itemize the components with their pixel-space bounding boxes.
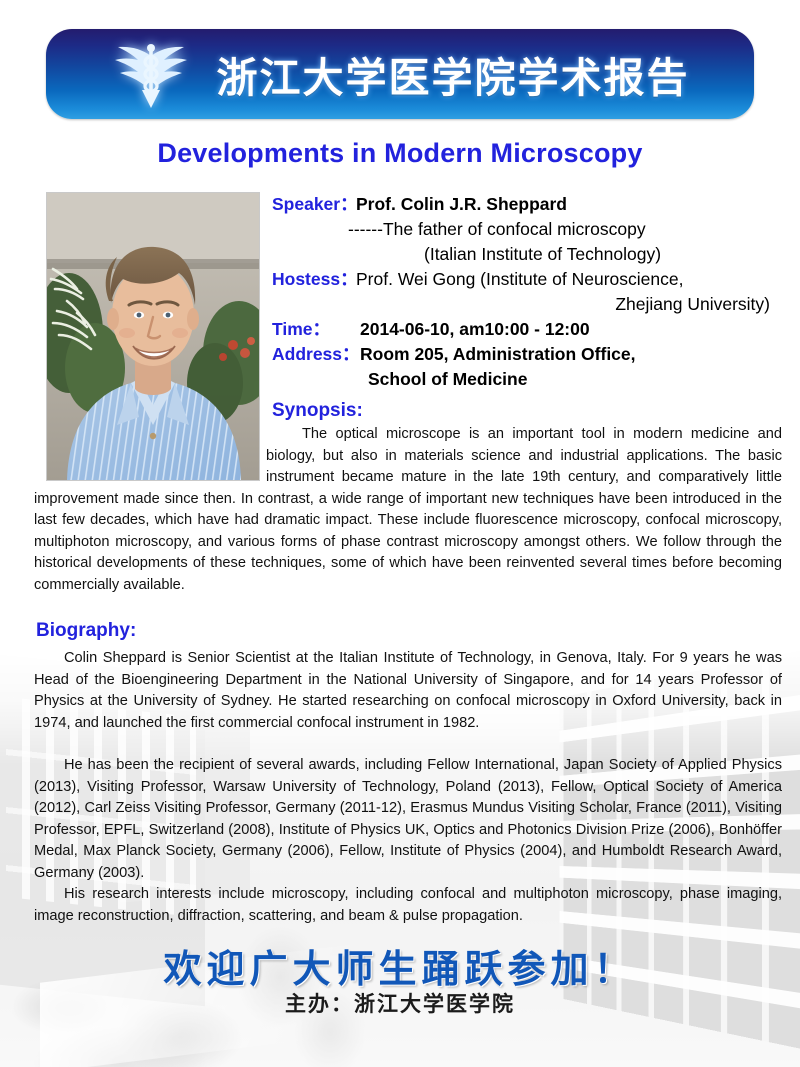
speaker-label: Speaker：	[272, 192, 356, 217]
synopsis-section: The optical microscope is an important t…	[34, 424, 782, 596]
biography-paragraph-3: His research interests include microscop…	[34, 884, 782, 927]
speaker-subtitle-2: (Italian Institute of Technology)	[272, 242, 784, 267]
caduceus-winged-medical-emblem-icon	[108, 38, 194, 110]
time-value: 2014-06-10, am10:00 - 12:00	[360, 317, 784, 342]
time-row: Time： 2014-06-10, am10:00 - 12:00	[272, 317, 784, 342]
synopsis-photo-spacer	[34, 424, 266, 486]
header-banner: 浙江大学医学院学术报告	[46, 29, 754, 119]
hostess-row: Hostess： Prof. Wei Gong (Institute of Ne…	[272, 267, 784, 292]
poster-canvas: 浙江大学医学院学术报告 Developments in Modern Micro…	[0, 0, 800, 1067]
speaker-row: Speaker： Prof. Colin J.R. Sheppard	[272, 192, 784, 217]
address-value: Room 205, Administration Office,	[360, 342, 784, 367]
biography-heading: Biography:	[36, 620, 136, 642]
hostess-value: Prof. Wei Gong (Institute of Neuroscienc…	[356, 267, 784, 292]
event-details-block: Speaker： Prof. Colin J.R. Sheppard -----…	[272, 192, 784, 423]
organizer-line: 主办：浙江大学医学院	[0, 988, 800, 1018]
time-label: Time：	[272, 317, 360, 342]
welcome-slogan: 欢迎广大师生踊跃参加！	[0, 938, 800, 993]
address-label: Address：	[272, 342, 360, 367]
address-value-line2: School of Medicine	[272, 367, 784, 392]
synopsis-heading: Synopsis:	[272, 398, 784, 423]
hostess-value-line2: Zhejiang University)	[272, 292, 784, 317]
address-row: Address： Room 205, Administration Office…	[272, 342, 784, 367]
speaker-value: Prof. Colin J.R. Sheppard	[356, 192, 784, 217]
banner-title: 浙江大学医学院学术报告	[194, 44, 754, 104]
hostess-label: Hostess：	[272, 267, 356, 292]
speaker-subtitle-1: ------The father of confocal microscopy	[272, 217, 784, 242]
biography-paragraph-1: Colin Sheppard is Senior Scientist at th…	[34, 648, 782, 734]
page-title: Developments in Modern Microscopy	[0, 138, 800, 169]
biography-paragraph-2: He has been the recipient of several awa…	[34, 755, 782, 884]
